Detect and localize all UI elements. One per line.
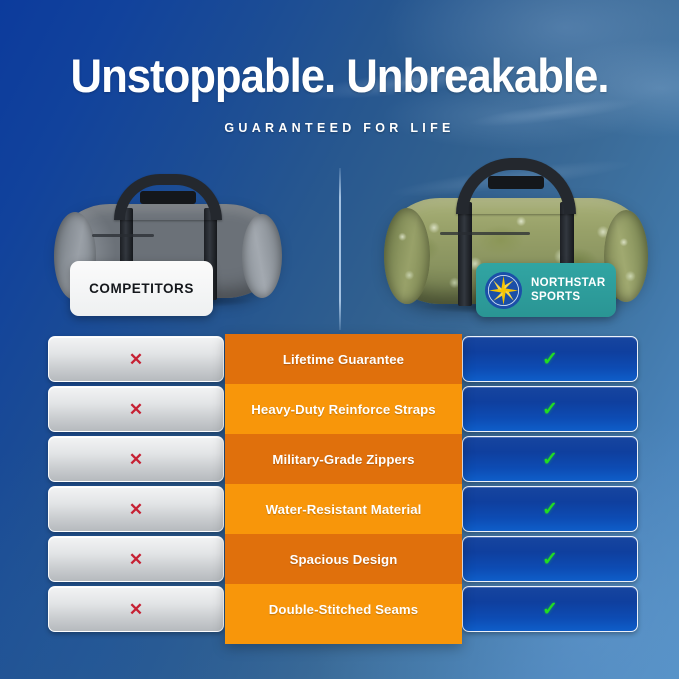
bag-end-left bbox=[384, 208, 430, 304]
check-icon: ✓ bbox=[542, 400, 558, 419]
page-headline: Unstoppable. Unbreakable. bbox=[24, 52, 655, 101]
competitor-cell: ✕ bbox=[48, 586, 224, 632]
bag-strap-left bbox=[458, 202, 472, 306]
competitor-cell: ✕ bbox=[48, 336, 224, 382]
feature-list-panel: Lifetime Guarantee Heavy-Duty Reinforce … bbox=[225, 334, 462, 644]
brand-name-line2: SPORTS bbox=[531, 291, 580, 303]
bag-handle bbox=[456, 158, 576, 214]
cross-icon: ✕ bbox=[129, 601, 143, 618]
brand-badge: NORTHSTAR SPORTS bbox=[476, 263, 616, 317]
header: Unstoppable. Unbreakable. GUARANTEED FOR… bbox=[0, 52, 679, 135]
check-icon: ✓ bbox=[542, 450, 558, 469]
bag-zipper bbox=[440, 232, 530, 235]
cross-icon: ✕ bbox=[129, 401, 143, 418]
brand-name: NORTHSTAR SPORTS bbox=[531, 276, 606, 305]
feature-label: Military-Grade Zippers bbox=[225, 434, 462, 484]
bag-handle-grip bbox=[488, 176, 544, 189]
cross-icon: ✕ bbox=[129, 351, 143, 368]
feature-label: Heavy-Duty Reinforce Straps bbox=[225, 384, 462, 434]
check-icon: ✓ bbox=[542, 600, 558, 619]
compass-star-seal-icon bbox=[484, 271, 523, 310]
cross-icon: ✕ bbox=[129, 451, 143, 468]
competitor-cell: ✕ bbox=[48, 536, 224, 582]
bag-end-right bbox=[242, 214, 282, 298]
page-subtitle: GUARANTEED FOR LIFE bbox=[0, 121, 679, 135]
feature-label: Water-Resistant Material bbox=[225, 484, 462, 534]
comparison-table: ✕ ✓ ✕ ✓ ✕ ✓ ✕ ✓ ✕ ✓ bbox=[0, 334, 679, 634]
brand-cell: ✓ bbox=[462, 386, 638, 432]
cross-icon: ✕ bbox=[129, 501, 143, 518]
check-icon: ✓ bbox=[542, 350, 558, 369]
competitors-label: COMPETITORS bbox=[70, 261, 213, 316]
column-divider bbox=[339, 168, 341, 330]
feature-label: Double-Stitched Seams bbox=[225, 584, 462, 634]
bag-zipper bbox=[92, 234, 154, 237]
feature-label: Spacious Design bbox=[225, 534, 462, 584]
brand-cell: ✓ bbox=[462, 586, 638, 632]
competitor-cell: ✕ bbox=[48, 386, 224, 432]
brand-cell: ✓ bbox=[462, 536, 638, 582]
brand-cell: ✓ bbox=[462, 436, 638, 482]
brand-cell: ✓ bbox=[462, 336, 638, 382]
check-icon: ✓ bbox=[542, 550, 558, 569]
cross-icon: ✕ bbox=[129, 551, 143, 568]
brand-name-line1: NORTHSTAR bbox=[531, 277, 606, 289]
bag-handle-grip bbox=[140, 191, 196, 204]
check-icon: ✓ bbox=[542, 500, 558, 519]
competitors-label-text: COMPETITORS bbox=[89, 281, 194, 296]
feature-label: Lifetime Guarantee bbox=[225, 334, 462, 384]
feature-panel-tail bbox=[225, 634, 462, 644]
competitor-cell: ✕ bbox=[48, 486, 224, 532]
bag-handle bbox=[114, 174, 222, 220]
brand-cell: ✓ bbox=[462, 486, 638, 532]
competitor-cell: ✕ bbox=[48, 436, 224, 482]
